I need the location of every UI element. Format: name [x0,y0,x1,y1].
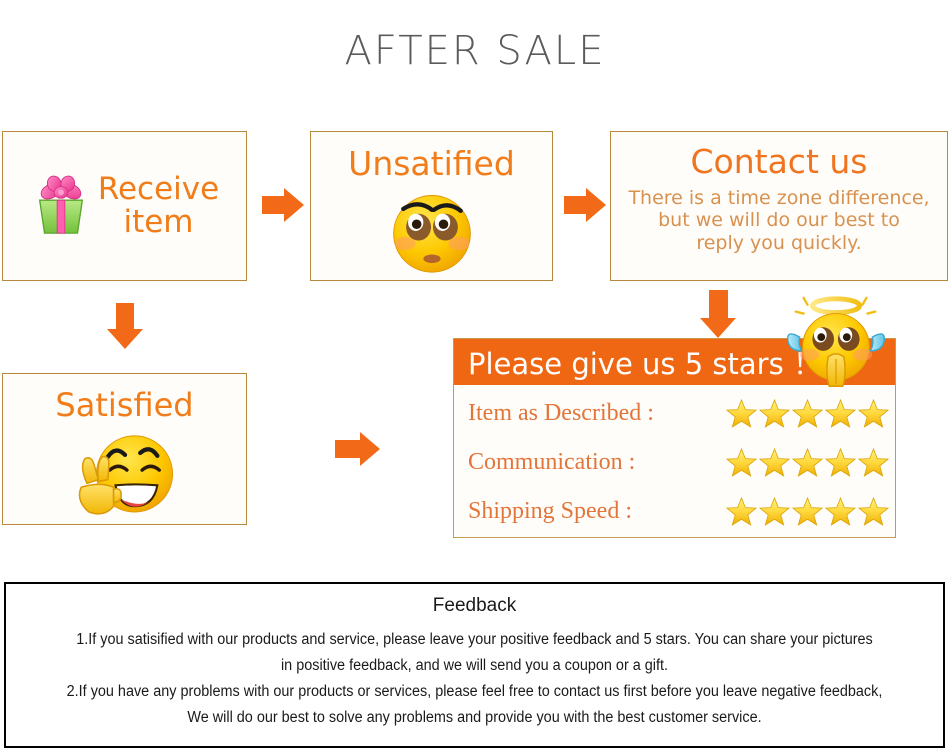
feedback-line-1: 1.If you satisified with our products an… [39,631,910,649]
feedback-title: Feedback [6,595,943,617]
rating-row: Communication : [468,438,895,487]
star-icon[interactable] [792,447,823,478]
star-icon[interactable] [759,447,790,478]
contact-sub-line-1: There is a time zone difference, [628,187,929,209]
gift-box-icon [30,175,92,237]
star-icon[interactable] [792,496,823,527]
receive-line-2: item [123,204,193,240]
laughing-victory-icon [66,424,184,520]
star-icon[interactable] [825,496,856,527]
after-sale-infographic: AFTER SALE [0,0,950,754]
star-icon[interactable] [726,447,757,478]
step-receive-item: Receive item [2,131,247,281]
star-icon[interactable] [858,447,889,478]
star-icon[interactable] [726,398,757,429]
praying-angel-icon [782,290,890,398]
unsatisfied-label: Unsatified [311,144,552,183]
feedback-line-2: in positive feedback, and we will send y… [39,657,910,675]
star-icon[interactable] [858,398,889,429]
star-icon[interactable] [792,398,823,429]
star-icon[interactable] [726,496,757,527]
satisfied-label: Satisfied [3,386,246,424]
rating-label-item-as-described: Item as Described : [468,400,726,427]
receive-item-label: Receive item [98,173,219,240]
page-title: AFTER SALE [0,28,950,74]
receive-line-1: Receive [98,171,219,207]
star-group-item-as-described[interactable] [726,398,889,429]
rating-row: Shipping Speed : [468,487,895,536]
contact-sub-line-3: reply you quickly. [696,232,861,254]
feedback-panel: Feedback 1.If you satisified with our pr… [4,582,945,748]
step-unsatisfied: Unsatified [310,131,553,281]
contact-sub-line-2: but we will do our best to [658,209,900,231]
feedback-line-4: We will do our best to solve any problem… [39,709,910,727]
step-contact-us: Contact us There is a time zone differen… [610,131,948,281]
contact-us-subtext: There is a time zone difference, but we … [611,187,947,254]
star-group-communication[interactable] [726,447,889,478]
star-icon[interactable] [759,398,790,429]
rating-label-shipping-speed: Shipping Speed : [468,498,726,525]
rolling-eyes-sad-icon [384,184,480,276]
star-icon[interactable] [825,398,856,429]
contact-us-title: Contact us [611,142,947,181]
rating-rows: Item as Described : Communication : [454,385,895,536]
feedback-line-3: 2.If you have any problems with our prod… [39,683,910,701]
star-group-shipping-speed[interactable] [726,496,889,527]
rating-header-text: Please give us 5 stars ！ [468,341,822,383]
star-icon[interactable] [858,496,889,527]
star-icon[interactable] [759,496,790,527]
step-satisfied: Satisfied [2,373,247,525]
rating-label-communication: Communication : [468,449,726,476]
star-icon[interactable] [825,447,856,478]
